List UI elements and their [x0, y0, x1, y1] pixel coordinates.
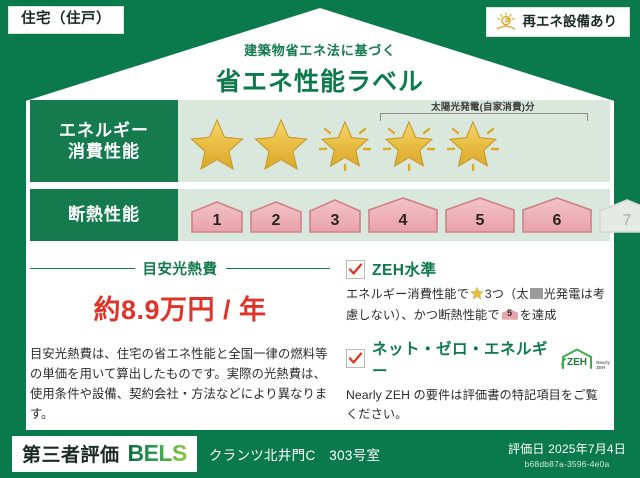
check-icon	[346, 349, 365, 368]
zeh-logo-sub: Nearly ZEH	[596, 361, 610, 371]
insulation-badge-number: 3	[308, 212, 362, 230]
net-zero-heading: ネット・ゼロ・エネルギー ZEH Nearly ZEH	[346, 337, 610, 381]
inline-badge-number: 5	[502, 307, 518, 321]
evaluation-info: 評価日 2025年7月4日 b68db87a-3596-4e0a	[508, 440, 626, 469]
star-icon-solar	[380, 116, 438, 172]
energy-consumption-label: エネルギー 消費性能	[30, 100, 178, 182]
insulation-badge-number: 6	[521, 212, 593, 230]
evaluation-date: 評価日 2025年7月4日	[508, 440, 626, 457]
renewable-chip-label: 再エネ設備あり	[523, 15, 618, 29]
star-icon-solar	[444, 116, 502, 172]
star-icon	[188, 116, 246, 172]
label-title: 建築物省エネ法に基づく 省エネ性能ラベル	[0, 40, 640, 98]
building-type-chip-label: 住宅（住戸）	[21, 11, 111, 27]
star-rating	[178, 116, 502, 172]
check-icon	[346, 260, 365, 279]
star-icon-solar	[316, 116, 374, 172]
utility-cost-heading-text: 目安光熱費	[143, 258, 218, 279]
zeh-body-part1: エネルギー消費性能で	[346, 287, 469, 301]
building-name: クランツ北井門C 303号室	[209, 444, 380, 464]
rating-rows: エネルギー 消費性能 太陽光発電(自家消費)分	[30, 100, 610, 248]
zeh-body-part2: 3つ（太	[485, 287, 529, 301]
third-party-eval-label: 第三者評価	[22, 440, 120, 467]
zeh-level-heading: ZEH水準	[346, 258, 610, 280]
zeh-level-block: ZEH水準 エネルギー消費性能で3つ（太光発電は考慮しない）、かつ断熱性能で5を…	[346, 258, 610, 325]
evaluation-date-label: 評価日	[508, 442, 545, 456]
insulation-badge-number: 5	[444, 212, 516, 230]
label-footer: 第三者評価 BELS クランツ北井門C 303号室 評価日 2025年7月4日 …	[0, 430, 640, 478]
utility-cost-column: 目安光熱費 約8.9万円 / 年 目安光熱費は、住宅の省エネ性能と全国一律の燃料…	[30, 258, 330, 436]
insulation-label-text: 断熱性能	[68, 204, 140, 225]
rule-left	[30, 268, 135, 269]
utility-cost-value: 約8.9万円 / 年	[30, 288, 330, 327]
insulation-badge-6: 6	[521, 196, 593, 234]
lower-section: 目安光熱費 約8.9万円 / 年 目安光熱費は、住宅の省エネ性能と全国一律の燃料…	[30, 258, 610, 436]
insulation-badge-2: 2	[249, 200, 303, 234]
insulation-badge-number: 7	[598, 212, 640, 230]
evaluation-id: b68db87a-3596-4e0a	[508, 459, 626, 469]
certification-column: ZEH水準 エネルギー消費性能で3つ（太光発電は考慮しない）、かつ断熱性能で5を…	[330, 258, 610, 436]
insulation-badge-7: 7	[598, 198, 640, 234]
zeh-level-title: ZEH水準	[372, 258, 437, 280]
redacted-block	[530, 288, 543, 299]
inline-insulation-badge: 5	[502, 307, 518, 322]
insulation-rating-value: 1 2 3	[178, 189, 640, 241]
energy-label-line2: 消費性能	[68, 141, 140, 162]
insulation-badge-number: 2	[249, 212, 303, 230]
renewable-equipment-chip: 再エネ設備あり	[486, 7, 631, 37]
rule-right	[226, 268, 331, 269]
energy-consumption-row: エネルギー 消費性能 太陽光発電(自家消費)分	[30, 100, 610, 182]
star-icon	[252, 116, 310, 172]
energy-label-line1: エネルギー	[59, 120, 149, 141]
title-main: 省エネ性能ラベル	[0, 62, 640, 98]
bels-logo-text: BELS	[128, 440, 187, 467]
insulation-badge-5: 5	[444, 196, 516, 234]
insulation-badge-1: 1	[190, 200, 244, 234]
insulation-row: 断熱性能 1	[30, 189, 610, 241]
zeh-body-part4: を達成	[520, 308, 557, 322]
insulation-badge-4: 4	[367, 196, 439, 234]
evaluation-date-value: 2025年7月4日	[548, 442, 626, 456]
bels-certification-badge: 第三者評価 BELS	[12, 436, 197, 472]
zeh-sub-line2: ZEH	[596, 365, 605, 370]
utility-cost-description: 目安光熱費は、住宅の省エネ性能と全国一律の燃料等の単価を用いて算出したものです。…	[30, 345, 330, 425]
zeh-logo: ZEH Nearly ZEH	[560, 347, 610, 371]
utility-cost-heading: 目安光熱費	[30, 258, 330, 279]
building-type-chip: 住宅（住戸）	[8, 6, 124, 34]
net-zero-body: Nearly ZEH の要件は評価書の特記項目をご覧ください。	[346, 386, 610, 424]
zeh-level-body: エネルギー消費性能で3つ（太光発電は考慮しない）、かつ断熱性能で5を達成	[346, 285, 610, 325]
insulation-badge-3: 3	[308, 198, 362, 234]
net-zero-title: ネット・ゼロ・エネルギー	[372, 337, 549, 381]
sun-solar-icon	[495, 12, 517, 32]
title-subtitle: 建築物省エネ法に基づく	[0, 40, 640, 59]
inline-star-icon	[470, 286, 484, 306]
energy-performance-label: 住宅（住戸） 再エネ設備あり 建築物省エネ法に基づく 省エネ性能ラベル	[0, 0, 640, 478]
insulation-level-badges: 1 2 3	[178, 196, 640, 234]
insulation-label: 断熱性能	[30, 189, 178, 241]
insulation-badge-number: 4	[367, 212, 439, 230]
insulation-badge-number: 1	[190, 212, 244, 230]
net-zero-energy-block: ネット・ゼロ・エネルギー ZEH Nearly ZEH Nearly ZE	[346, 337, 610, 424]
svg-text:ZEH: ZEH	[567, 357, 587, 368]
energy-rating-value: 太陽光発電(自家消費)分	[178, 100, 610, 182]
solar-generation-note: 太陽光発電(自家消費)分	[378, 99, 588, 113]
